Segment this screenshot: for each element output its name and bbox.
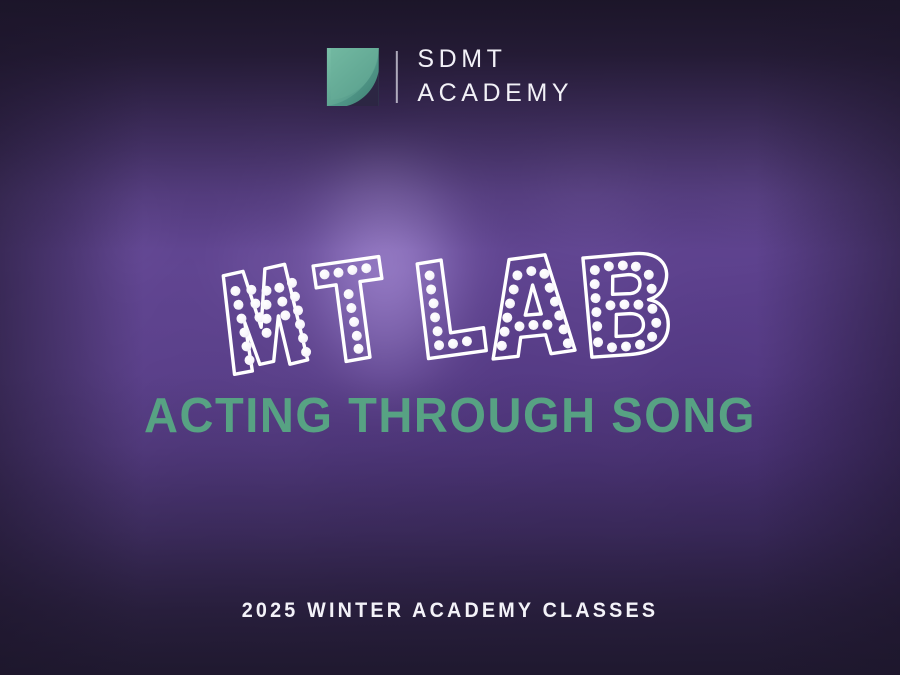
- sdmt-leaf-mark-icon: [327, 48, 379, 106]
- sdmt-academy-logo: SDMT ACADEMY: [327, 47, 573, 106]
- promo-poster: SDMT ACADEMY: [0, 0, 900, 675]
- marquee-letter-T: [313, 256, 386, 362]
- marquee-letter-A: [491, 254, 575, 359]
- poster-content: SDMT ACADEMY: [0, 0, 900, 675]
- poster-subtitle: ACTING THROUGH SONG: [18, 392, 882, 441]
- poster-kicker: 2025 WINTER ACADEMY CLASSES: [27, 599, 873, 623]
- marquee-letter-L: [417, 259, 486, 359]
- logo-wordmark: SDMT ACADEMY: [417, 47, 573, 106]
- logo-line-sdmt: SDMT: [417, 47, 573, 72]
- marquee-letter-B: [582, 253, 669, 358]
- mt-lab-marquee-lettering: [215, 258, 685, 388]
- mt-lab-title: [0, 258, 900, 388]
- logo-divider: [396, 51, 398, 103]
- marquee-letter-M: [223, 263, 313, 375]
- logo-line-academy: ACADEMY: [417, 81, 573, 106]
